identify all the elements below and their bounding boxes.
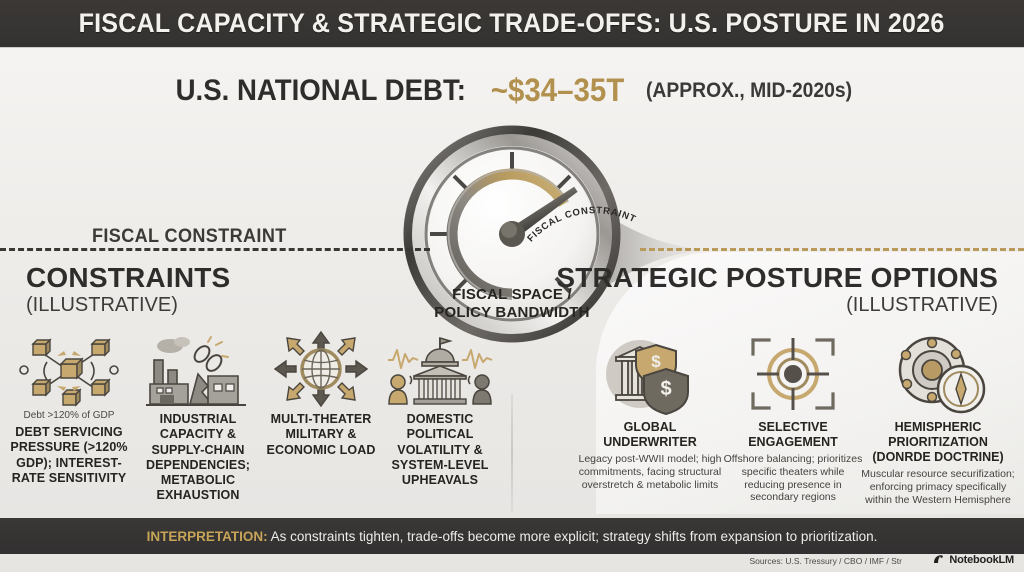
constraint-label-0: DEBT SERVICING PRESSURE (>120% GDP); INT…: [4, 425, 134, 486]
constraint-label-3: DOMESTIC POLITICAL VOLATILITY & SYSTEM-L…: [378, 412, 502, 488]
debt-note: (APPROX., MID-2020s): [646, 79, 852, 103]
constraint-item-domestic-political: DOMESTIC POLITICAL VOLATILITY & SYSTEM-L…: [378, 330, 502, 488]
header-bar: FISCAL CAPACITY & STRATEGIC TRADE-OFFS: …: [0, 0, 1024, 47]
debt-lead-label: U.S. NATIONAL DEBT:: [176, 74, 466, 108]
option-label-2: HEMISPHERIC PRIORITIZATION (DONRDE DOCTR…: [860, 420, 1016, 465]
hemisphere-compass-icon: [860, 330, 1016, 418]
constraint-label-1: INDUSTRIAL CAPACITY & SUPPLY-CHAIN DEPEN…: [134, 412, 262, 504]
interpretation-body: As constraints tighten, trade-offs becom…: [268, 529, 878, 544]
footer-bar: INTERPRETATION: As constraints tighten, …: [0, 518, 1024, 554]
sources-line: Sources: U.S. Tressury / CBO / IMF / Str: [749, 556, 902, 566]
options-subtitle: (ILLUSTRATIVE): [556, 295, 998, 315]
debt-value: ~$34–35T: [491, 72, 624, 109]
interpretation-text: INTERPRETATION: As constraints tighten, …: [147, 529, 878, 544]
constraints-list: Debt >120% of GDP DEBT SERVICING PRESSUR…: [0, 330, 506, 520]
constraint-item-debt-servicing: Debt >120% of GDP DEBT SERVICING PRESSUR…: [4, 330, 134, 486]
section-divider: [511, 394, 513, 512]
axis-dashed-right: [640, 248, 1024, 251]
network-nodes-icon: [4, 330, 134, 408]
options-heading: STRATEGIC POSTURE OPTIONS (ILLUSTRATIVE): [556, 264, 998, 315]
debt-headline: U.S. NATIONAL DEBT: ~$34–35T (APPROX., M…: [0, 72, 1024, 109]
svg-text:$: $: [651, 352, 661, 371]
notebooklm-label: NotebookLM: [949, 554, 1014, 566]
constraints-heading: CONSTRAINTS (ILLUSTRATIVE): [26, 264, 230, 315]
options-list: $ $ GLOBAL UNDERWRITER Legacy post-WWII …: [560, 330, 1024, 520]
option-desc-1: Offshore balancing; prioritizes specific…: [722, 453, 864, 504]
option-item-global-underwriter: $ $ GLOBAL UNDERWRITER Legacy post-WWII …: [576, 330, 724, 491]
infographic-canvas: FISCAL CAPACITY & STRATEGIC TRADE-OFFS: …: [0, 0, 1024, 572]
constraint-item-multi-theater: MULTI-THEATER MILITARY & ECONOMIC LOAD: [262, 330, 380, 458]
crosshair-target-icon: [722, 330, 864, 418]
constraint-label-2: MULTI-THEATER MILITARY & ECONOMIC LOAD: [262, 412, 380, 458]
option-label-0: GLOBAL UNDERWRITER: [576, 420, 724, 450]
constraints-subtitle: (ILLUSTRATIVE): [26, 295, 230, 315]
constraint-sub-0: Debt >120% of GDP: [4, 410, 134, 421]
constraints-title: CONSTRAINTS: [26, 264, 230, 292]
pillar-shield-dollar-icon: $ $: [576, 330, 724, 418]
option-desc-0: Legacy post-WWII model; high commitments…: [576, 453, 724, 491]
notebooklm-logo-icon: [932, 553, 945, 566]
svg-text:$: $: [660, 378, 671, 400]
globe-arrows-icon: [262, 330, 380, 408]
factory-broken-chain-icon: [134, 330, 262, 408]
axis-dashed-left: [0, 248, 430, 251]
notebooklm-badge: NotebookLM: [932, 553, 1014, 566]
capitol-unrest-icon: [378, 330, 502, 408]
option-desc-2: Muscular resource securifization; enforc…: [860, 468, 1016, 506]
option-item-selective-engagement: SELECTIVE ENGAGEMENT Offshore balancing;…: [722, 330, 864, 504]
axis-label-fiscal-constraint: FISCAL CONSTRAINT: [92, 226, 287, 248]
options-title: STRATEGIC POSTURE OPTIONS: [556, 264, 998, 292]
option-label-1: SELECTIVE ENGAGEMENT: [722, 420, 864, 450]
page-title: FISCAL CAPACITY & STRATEGIC TRADE-OFFS: …: [79, 8, 945, 39]
interpretation-key: INTERPRETATION:: [147, 529, 268, 544]
option-item-hemispheric-prioritization: HEMISPHERIC PRIORITIZATION (DONRDE DOCTR…: [860, 330, 1016, 506]
constraint-item-industrial-capacity: INDUSTRIAL CAPACITY & SUPPLY-CHAIN DEPEN…: [134, 330, 262, 504]
